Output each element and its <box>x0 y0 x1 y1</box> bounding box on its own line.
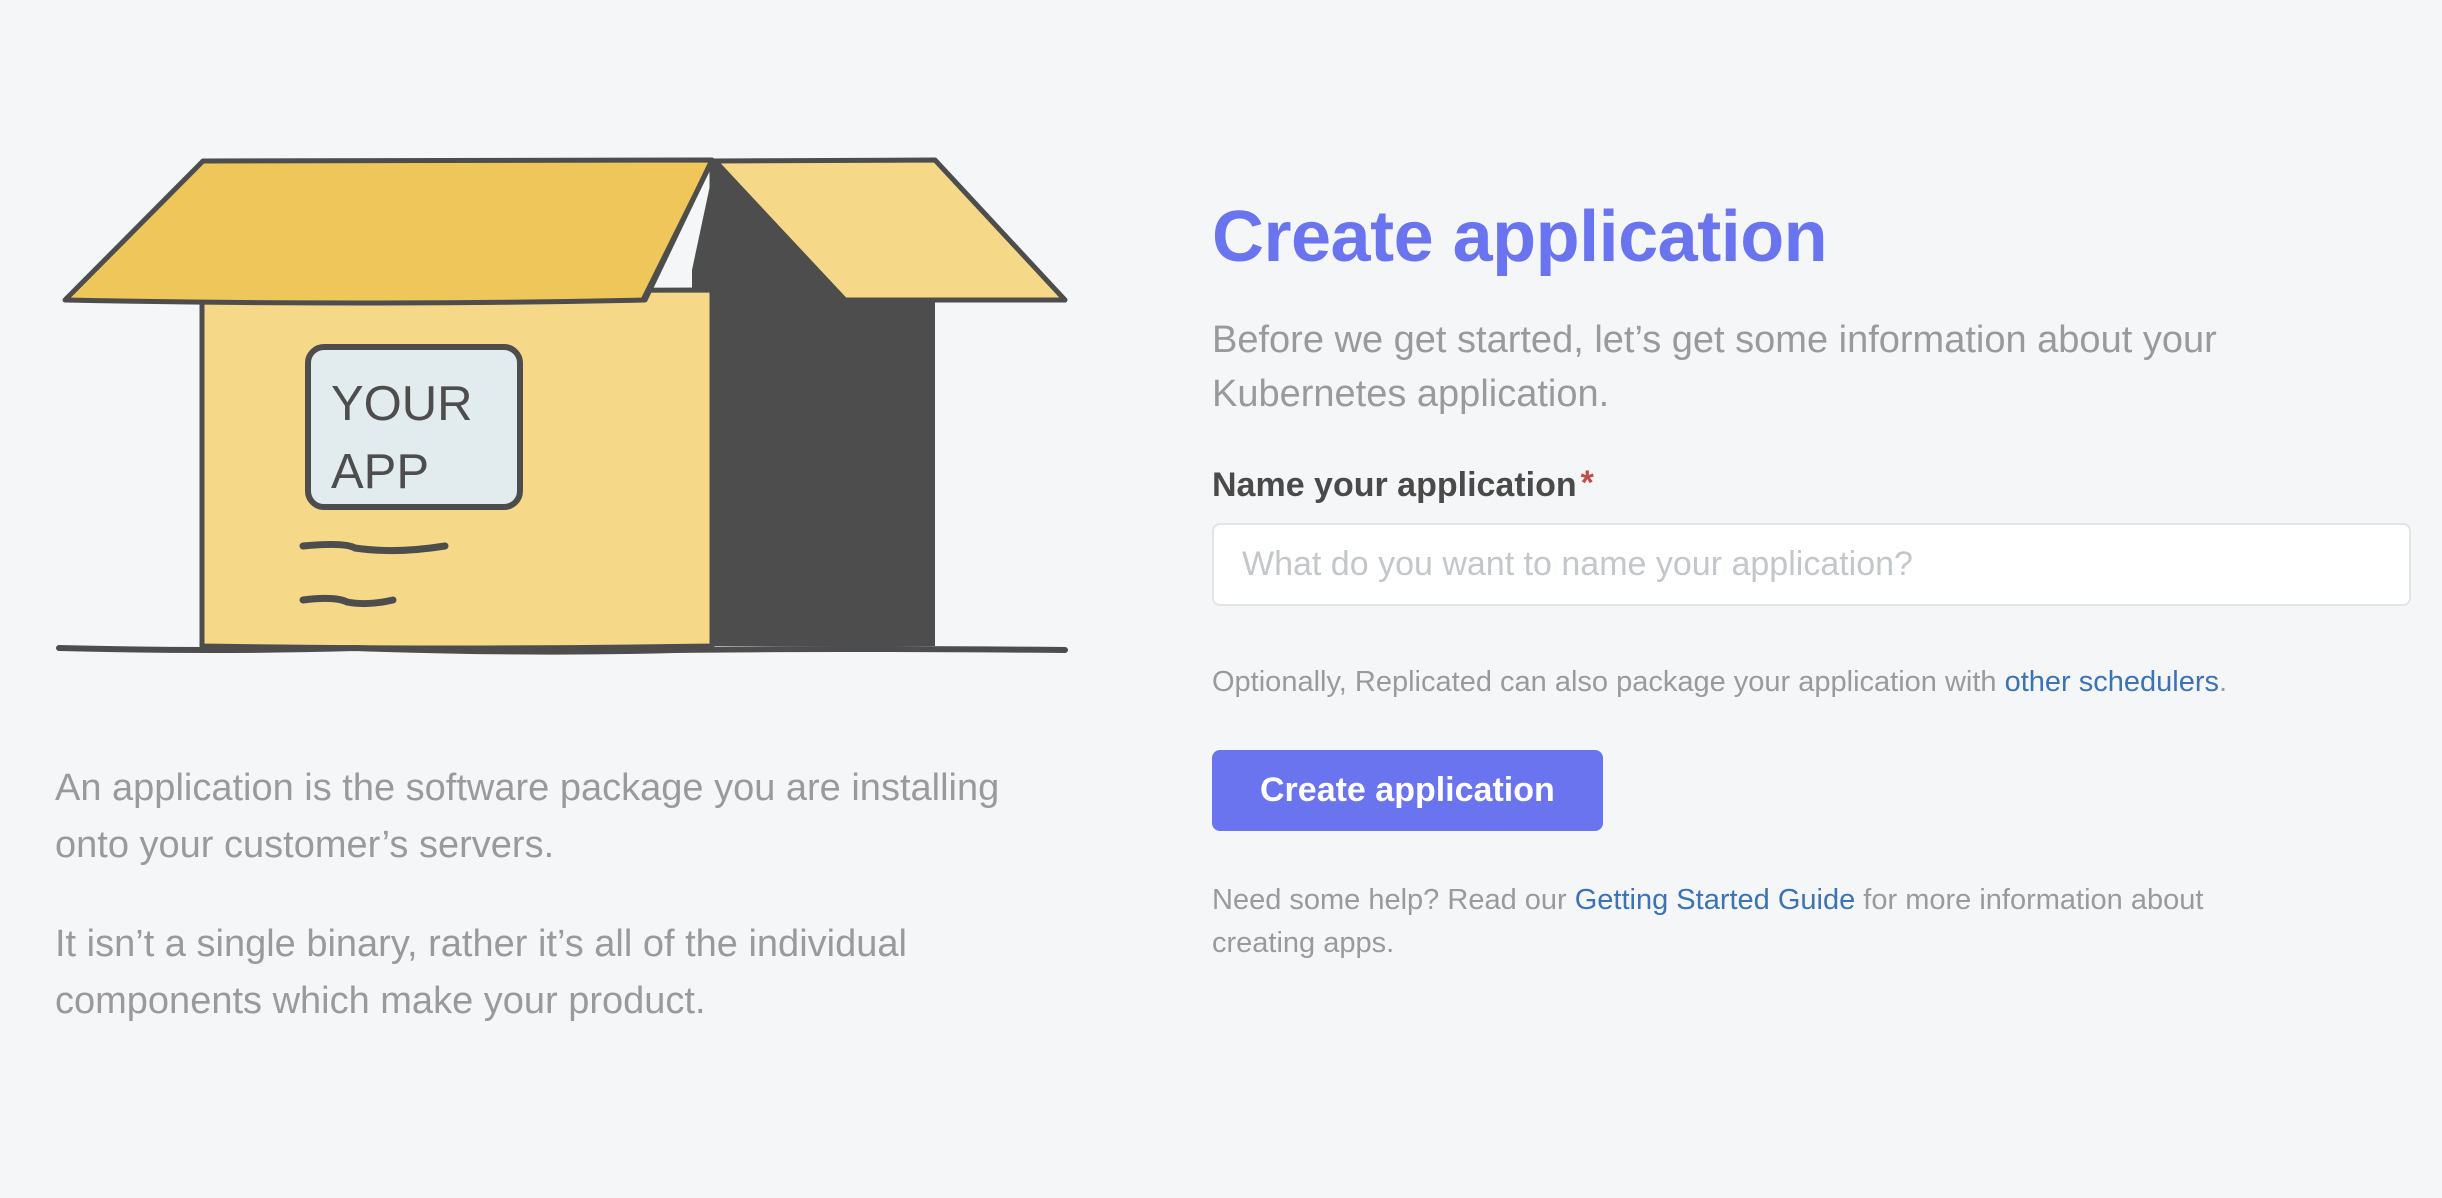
create-application-page: YOUR APP An application is the software … <box>0 0 2442 1198</box>
other-schedulers-link[interactable]: other schedulers <box>2005 666 2219 698</box>
box-right-side <box>712 290 935 646</box>
page-subtitle: Before we get started, let’s get some in… <box>1212 314 2352 422</box>
application-name-input[interactable] <box>1212 523 2411 606</box>
your-app-label-line1: YOUR <box>331 377 473 431</box>
left-paragraph-2: It isn’t a single binary, rather it’s al… <box>55 916 1005 1030</box>
application-name-label: Name your application* <box>1212 466 2412 505</box>
page-title: Create application <box>1212 200 2412 276</box>
optional-note-prefix: Optionally, Replicated can also package … <box>1212 666 2005 698</box>
left-paragraph-1: An application is the software package y… <box>55 760 1005 874</box>
optional-schedulers-note: Optionally, Replicated can also package … <box>1212 662 2412 703</box>
optional-note-suffix: . <box>2219 666 2227 698</box>
open-cardboard-box-illustration: YOUR APP <box>55 150 1075 710</box>
your-app-label-line2: APP <box>331 445 429 499</box>
box-flap-left <box>65 160 712 303</box>
create-application-button[interactable]: Create application <box>1212 750 1603 831</box>
left-info-column: YOUR APP An application is the software … <box>55 150 1115 1030</box>
application-name-label-text: Name your application <box>1212 466 1577 504</box>
getting-started-guide-link[interactable]: Getting Started Guide <box>1575 884 1856 916</box>
required-asterisk: * <box>1581 464 1594 502</box>
help-note: Need some help? Read our Getting Started… <box>1212 879 2212 963</box>
create-application-form-column: Create application Before we get started… <box>1212 200 2412 964</box>
left-description-block: An application is the software package y… <box>55 760 1005 1030</box>
help-note-prefix: Need some help? Read our <box>1212 884 1575 916</box>
